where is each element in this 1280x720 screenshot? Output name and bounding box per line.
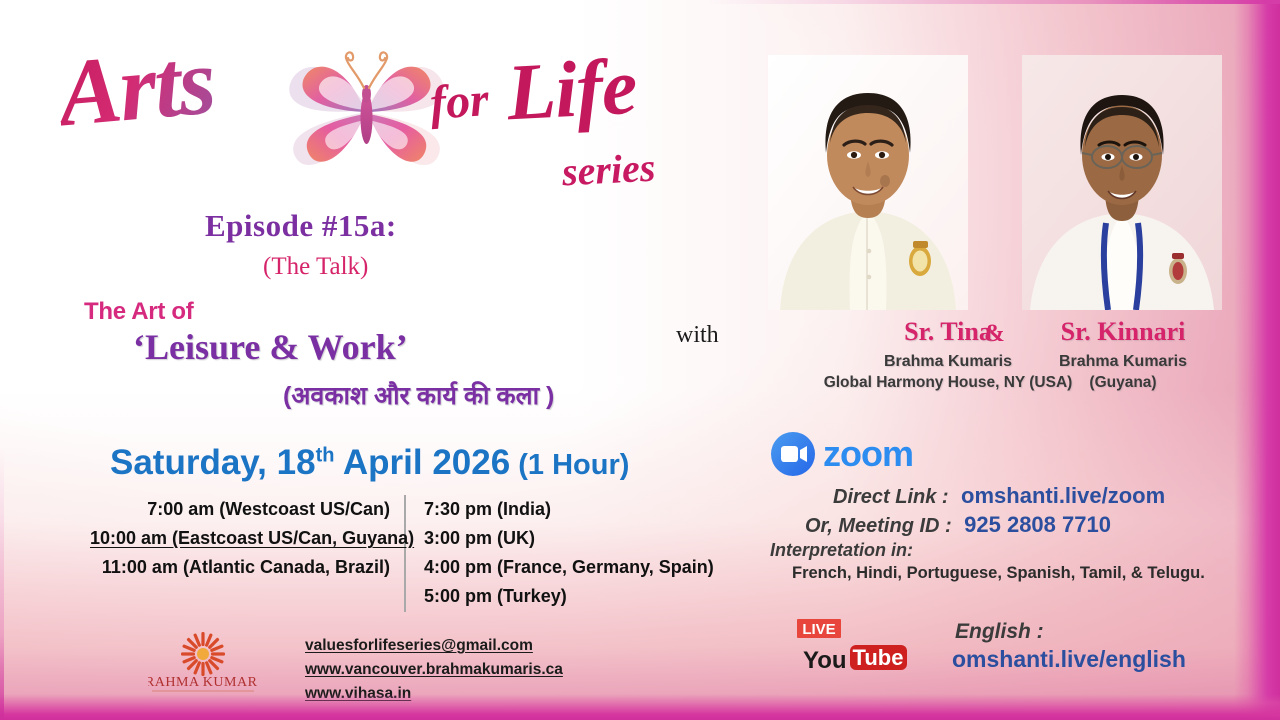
event-day-suffix: th [316,444,335,466]
event-date: Saturday, 18th April 2026 (1 Hour) [110,443,629,483]
speaker-name: Sr. Kinnari [978,318,1268,347]
butterfly-icon [284,36,449,196]
with-label: with [676,322,719,349]
logo-word-for: for [428,76,490,128]
event-duration: (1 Hour) [510,449,629,481]
speaker-location: (Guyana) [978,373,1268,394]
speaker-photo-kinnari [1022,55,1222,310]
episode-format: (The Talk) [263,253,368,281]
timezone-row: 4:00 pm (France, Germany, Spain) [424,553,714,582]
youtube-english-url[interactable]: omshanti.live/english [952,646,1186,673]
timezone-row: 7:30 pm (India) [424,495,714,524]
svg-text:BRAHMA KUMARIS: BRAHMA KUMARIS [148,675,258,690]
zoom-direct-link-value[interactable]: omshanti.live/zoom [961,483,1165,508]
episode-topic: ‘Leisure & Work’ [133,326,408,368]
interpretation-languages: French, Hindi, Portuguese, Spanish, Tami… [792,564,1205,583]
logo-word-arts: Arts [54,33,217,141]
zoom-meeting-id-value: 925 2808 7710 [964,512,1111,537]
event-month-year: April 2026 [334,443,510,482]
sun-rays-icon [181,632,225,676]
art-of-label: The Art of [84,298,193,326]
speaker-photo-tina [768,55,968,310]
event-day: 18 [277,443,316,482]
svg-text:You: You [803,647,847,674]
border-accent-bottom [0,694,1280,720]
contact-website-vancouver[interactable]: www.vancouver.brahmakumaris.ca [305,658,563,682]
svg-text:Tube: Tube [853,645,904,670]
border-accent-right [1234,0,1280,720]
speaker-org: Brahma Kumaris [978,351,1268,373]
timezone-row: 5:00 pm (Turkey) [424,582,714,611]
zoom-direct-link-row: Direct Link : omshanti.live/zoom [833,483,1165,509]
zoom-logo-icon: zoom [770,430,925,478]
border-accent-left [0,0,4,720]
timezone-column-international: 7:30 pm (India) 3:00 pm (UK) 4:00 pm (Fr… [406,495,714,612]
timezone-table: 7:00 am (Westcoast US/Can) 10:00 am (Eas… [90,495,740,612]
zoom-direct-link-label: Direct Link : [833,486,949,508]
logo-word-life: Life [505,47,638,134]
timezone-row: 11:00 am (Atlantic Canada, Brazil) [90,553,390,582]
event-weekday: Saturday, [110,443,277,482]
contact-email[interactable]: valuesforlifeseries@gmail.com [305,634,563,658]
border-accent-top [0,0,1280,4]
episode-number: Episode #15a: [205,208,397,244]
svg-text:LIVE: LIVE [802,621,835,638]
svg-text:zoom: zoom [823,433,913,474]
youtube-live-logo-icon[interactable]: LIVE You Tube [795,618,913,676]
timezone-row: 7:00 am (Westcoast US/Can) [90,495,390,524]
youtube-english-label: English : [955,620,1044,644]
logo-word-series: series [561,148,656,193]
speaker-info-kinnari: Sr. Kinnari Brahma Kumaris (Guyana) [978,318,1268,394]
zoom-meeting-id-label: Or, Meeting ID : [805,515,952,537]
brahma-kumaris-logo: BRAHMA KUMARIS [148,628,258,696]
episode-topic-hindi: (अवकाश और कार्य की कला ) [283,378,554,412]
event-flyer: Arts [0,0,1280,720]
timezone-row: 3:00 pm (UK) [424,524,714,553]
timezone-row: 10:00 am (Eastcoast US/Can, Guyana) [90,524,390,553]
zoom-meeting-id-row: Or, Meeting ID : 925 2808 7710 [805,512,1111,538]
timezone-column-americas: 7:00 am (Westcoast US/Can) 10:00 am (Eas… [90,495,406,612]
interpretation-label: Interpretation in: [770,540,913,561]
arts-for-life-logo: Arts [52,22,652,202]
